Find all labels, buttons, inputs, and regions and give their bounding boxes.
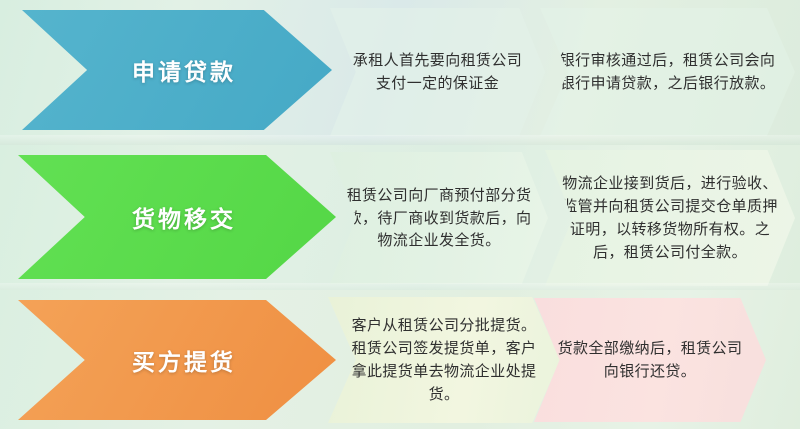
detail-text-row3-middle: 客户从租赁公司分批提货。租赁公司签发提货单，客户拿此提货单去物流企业处提货。 [328,314,560,405]
detail-text-row3-right: 货款全部缴纳后，租赁公司向银行还贷。 [534,337,766,383]
detail-text-row2-middle: 租赁公司向厂商预付部分货款，待厂商收到货款后，向物流企业发全货。 [330,184,548,252]
stage-chevron-label-3: 买方提货 [118,343,236,377]
detail-panel-row1-middle: 承租人首先要向租赁公司支付一定的保证金 [330,8,545,136]
stage-chevron-label-1: 申请贷款 [118,53,236,87]
detail-text-row2-right: 物流企业接到货后，进行验收、监管并向租赁公司提交仓单质押证明，以转移货物所有权。… [545,172,795,263]
detail-text-row1-middle: 承租人首先要向租赁公司支付一定的保证金 [330,49,545,95]
stage-chevron-label-2: 货物移交 [118,200,236,234]
detail-text-row1-right: 银行审核通过后，租赁公司会向银行申请贷款，之后银行放款。 [540,49,795,95]
process-diagram: 申请贷款 承租人首先要向租赁公司支付一定的保证金 银行审核通过后，租赁公司会向银… [0,0,800,429]
detail-panel-row2-middle: 租赁公司向厂商预付部分货款，待厂商收到货款后，向物流企业发全货。 [330,152,548,284]
row-separator-1 [0,135,800,145]
detail-panel-row1-right: 银行审核通过后，租赁公司会向银行申请贷款，之后银行放款。 [540,8,795,136]
detail-panel-row3-right: 货款全部缴纳后，租赁公司向银行还贷。 [534,298,766,422]
detail-panel-row3-middle: 客户从租赁公司分批提货。租赁公司签发提货单，客户拿此提货单去物流企业处提货。 [328,297,560,423]
detail-panel-row2-right: 物流企业接到货后，进行验收、监管并向租赁公司提交仓单质押证明，以转移货物所有权。… [545,150,795,286]
